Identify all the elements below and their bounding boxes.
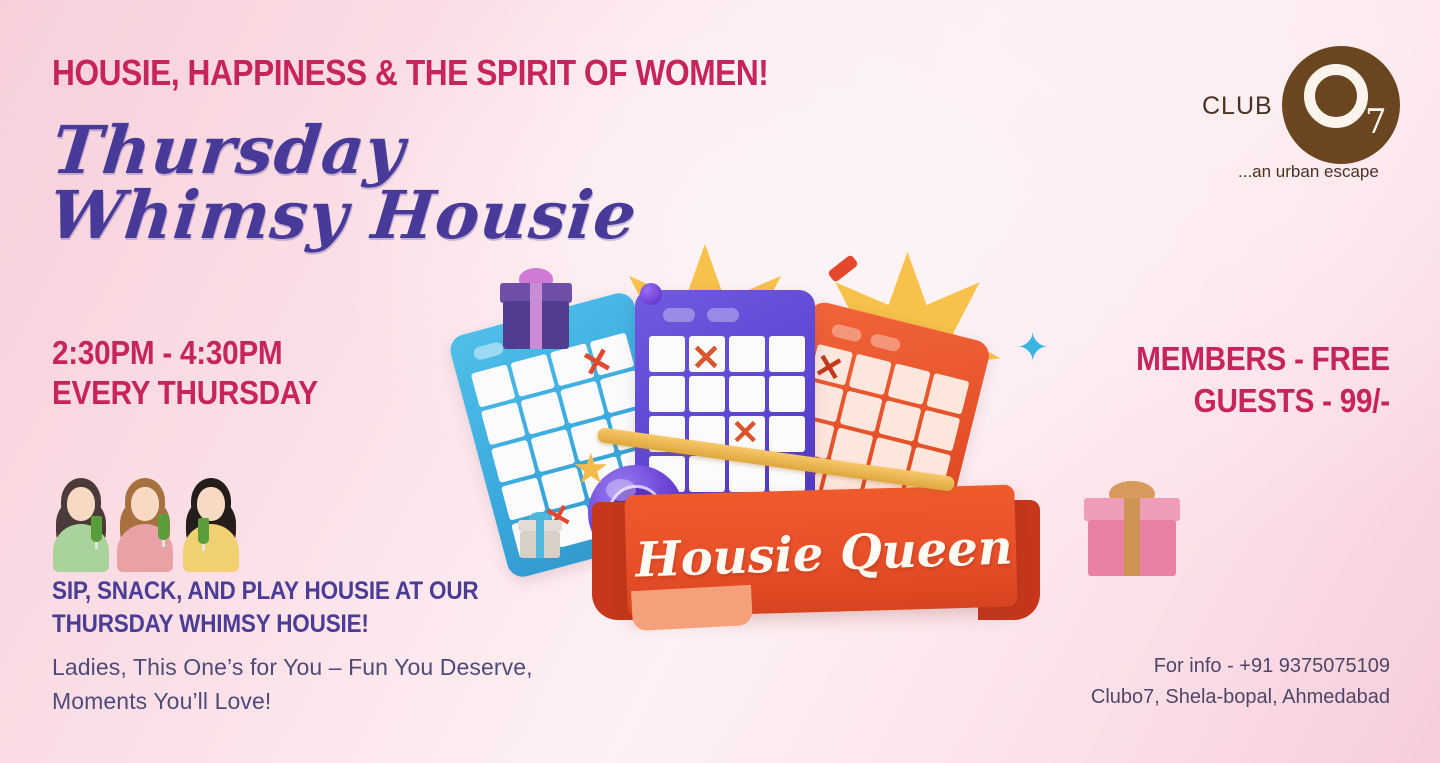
event-title-line-2: Whimsy Housie bbox=[46, 183, 640, 248]
promo-headline-line-2: THURSDAY WHIMSY HOUSIE! bbox=[52, 608, 478, 641]
ribbon-label: Housie Queen bbox=[636, 496, 1011, 613]
dress-icon bbox=[183, 524, 239, 572]
promo-headline: SIP, SNACK, AND PLAY HOUSIE AT OUR THURS… bbox=[52, 575, 478, 640]
x-mark-icon: ✕ bbox=[731, 416, 760, 450]
club-o7-logo: CLUB 7 ...an urban escape bbox=[1198, 40, 1398, 190]
gold-star-icon: ★ bbox=[572, 448, 610, 490]
promo-subtext-line-2: Moments You’ll Love! bbox=[52, 684, 533, 718]
card-hole-icon bbox=[830, 323, 862, 343]
contact-phone: For info - +91 9375075109 bbox=[1091, 651, 1390, 682]
event-time-block: 2:30PM - 4:30PM EVERY THURSDAY bbox=[52, 333, 318, 414]
guests-price: GUESTS - 99/- bbox=[1136, 380, 1390, 422]
card-hole-icon bbox=[663, 308, 695, 322]
card-hole-icon bbox=[869, 333, 901, 353]
x-mark-icon: ✕ bbox=[691, 340, 721, 376]
woman-figure-1 bbox=[50, 476, 112, 572]
gift-ribbon-icon bbox=[530, 283, 542, 349]
promo-subtext-line-1: Ladies, This One’s for You – Fun You Des… bbox=[52, 650, 533, 684]
cyan-sparkle-icon: ✦ bbox=[1016, 328, 1050, 368]
event-frequency: EVERY THURSDAY bbox=[52, 373, 318, 413]
members-price: MEMBERS - FREE bbox=[1136, 338, 1390, 380]
pricing-block: MEMBERS - FREE GUESTS - 99/- bbox=[1136, 338, 1390, 422]
event-time: 2:30PM - 4:30PM bbox=[52, 333, 318, 373]
logo-club-word: CLUB bbox=[1202, 92, 1273, 121]
housie-queen-ribbon: Housie Queen bbox=[592, 484, 1040, 644]
page-headline: HOUSIE, HAPPINESS & THE SPIRIT OF WOMEN! bbox=[52, 52, 768, 94]
logo-tagline: ...an urban escape bbox=[1238, 162, 1379, 182]
woman-figure-2 bbox=[114, 476, 176, 572]
drink-glass-icon bbox=[198, 518, 209, 544]
contact-address: Clubo7, Shela-bopal, Ahmedabad bbox=[1091, 682, 1390, 713]
logo-o-ring-icon bbox=[1304, 64, 1368, 128]
logo-seven: 7 bbox=[1365, 102, 1387, 142]
contact-info: For info - +91 9375075109 Clubo7, Shela-… bbox=[1091, 651, 1390, 713]
gift-ribbon-icon bbox=[536, 520, 543, 558]
face-icon bbox=[197, 487, 225, 521]
purple-dot-decor bbox=[640, 283, 662, 305]
promo-headline-line-1: SIP, SNACK, AND PLAY HOUSIE AT OUR bbox=[52, 575, 478, 608]
drink-glass-icon bbox=[158, 514, 169, 540]
promotional-poster: HOUSIE, HAPPINESS & THE SPIRIT OF WOMEN!… bbox=[0, 0, 1440, 763]
gift-box-pink bbox=[1084, 498, 1180, 576]
event-title: Thursday Whimsy Housie bbox=[42, 118, 647, 247]
women-illustration bbox=[50, 474, 245, 572]
gift-box-purple bbox=[500, 283, 572, 349]
promo-subtext: Ladies, This One’s for You – Fun You Des… bbox=[52, 650, 533, 718]
woman-figure-3 bbox=[180, 476, 242, 572]
face-icon bbox=[131, 487, 159, 521]
card-hole-icon bbox=[707, 308, 739, 322]
gift-box-blue bbox=[518, 520, 562, 558]
gift-ribbon-icon bbox=[1124, 498, 1139, 576]
drink-glass-icon bbox=[91, 516, 102, 542]
